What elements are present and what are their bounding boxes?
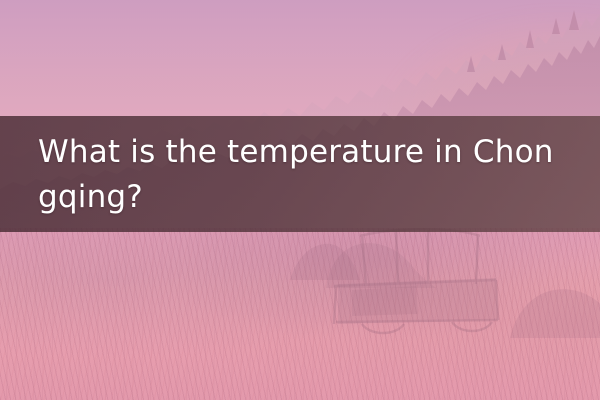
shrub-clump: [290, 236, 360, 280]
screenshot-canvas: What is the temperature in Chon gqing?: [0, 0, 600, 400]
caption-band: What is the temperature in Chon gqing?: [0, 116, 600, 232]
shrub-clump: [508, 268, 600, 338]
caption-question-text: What is the temperature in Chon gqing?: [38, 130, 584, 220]
